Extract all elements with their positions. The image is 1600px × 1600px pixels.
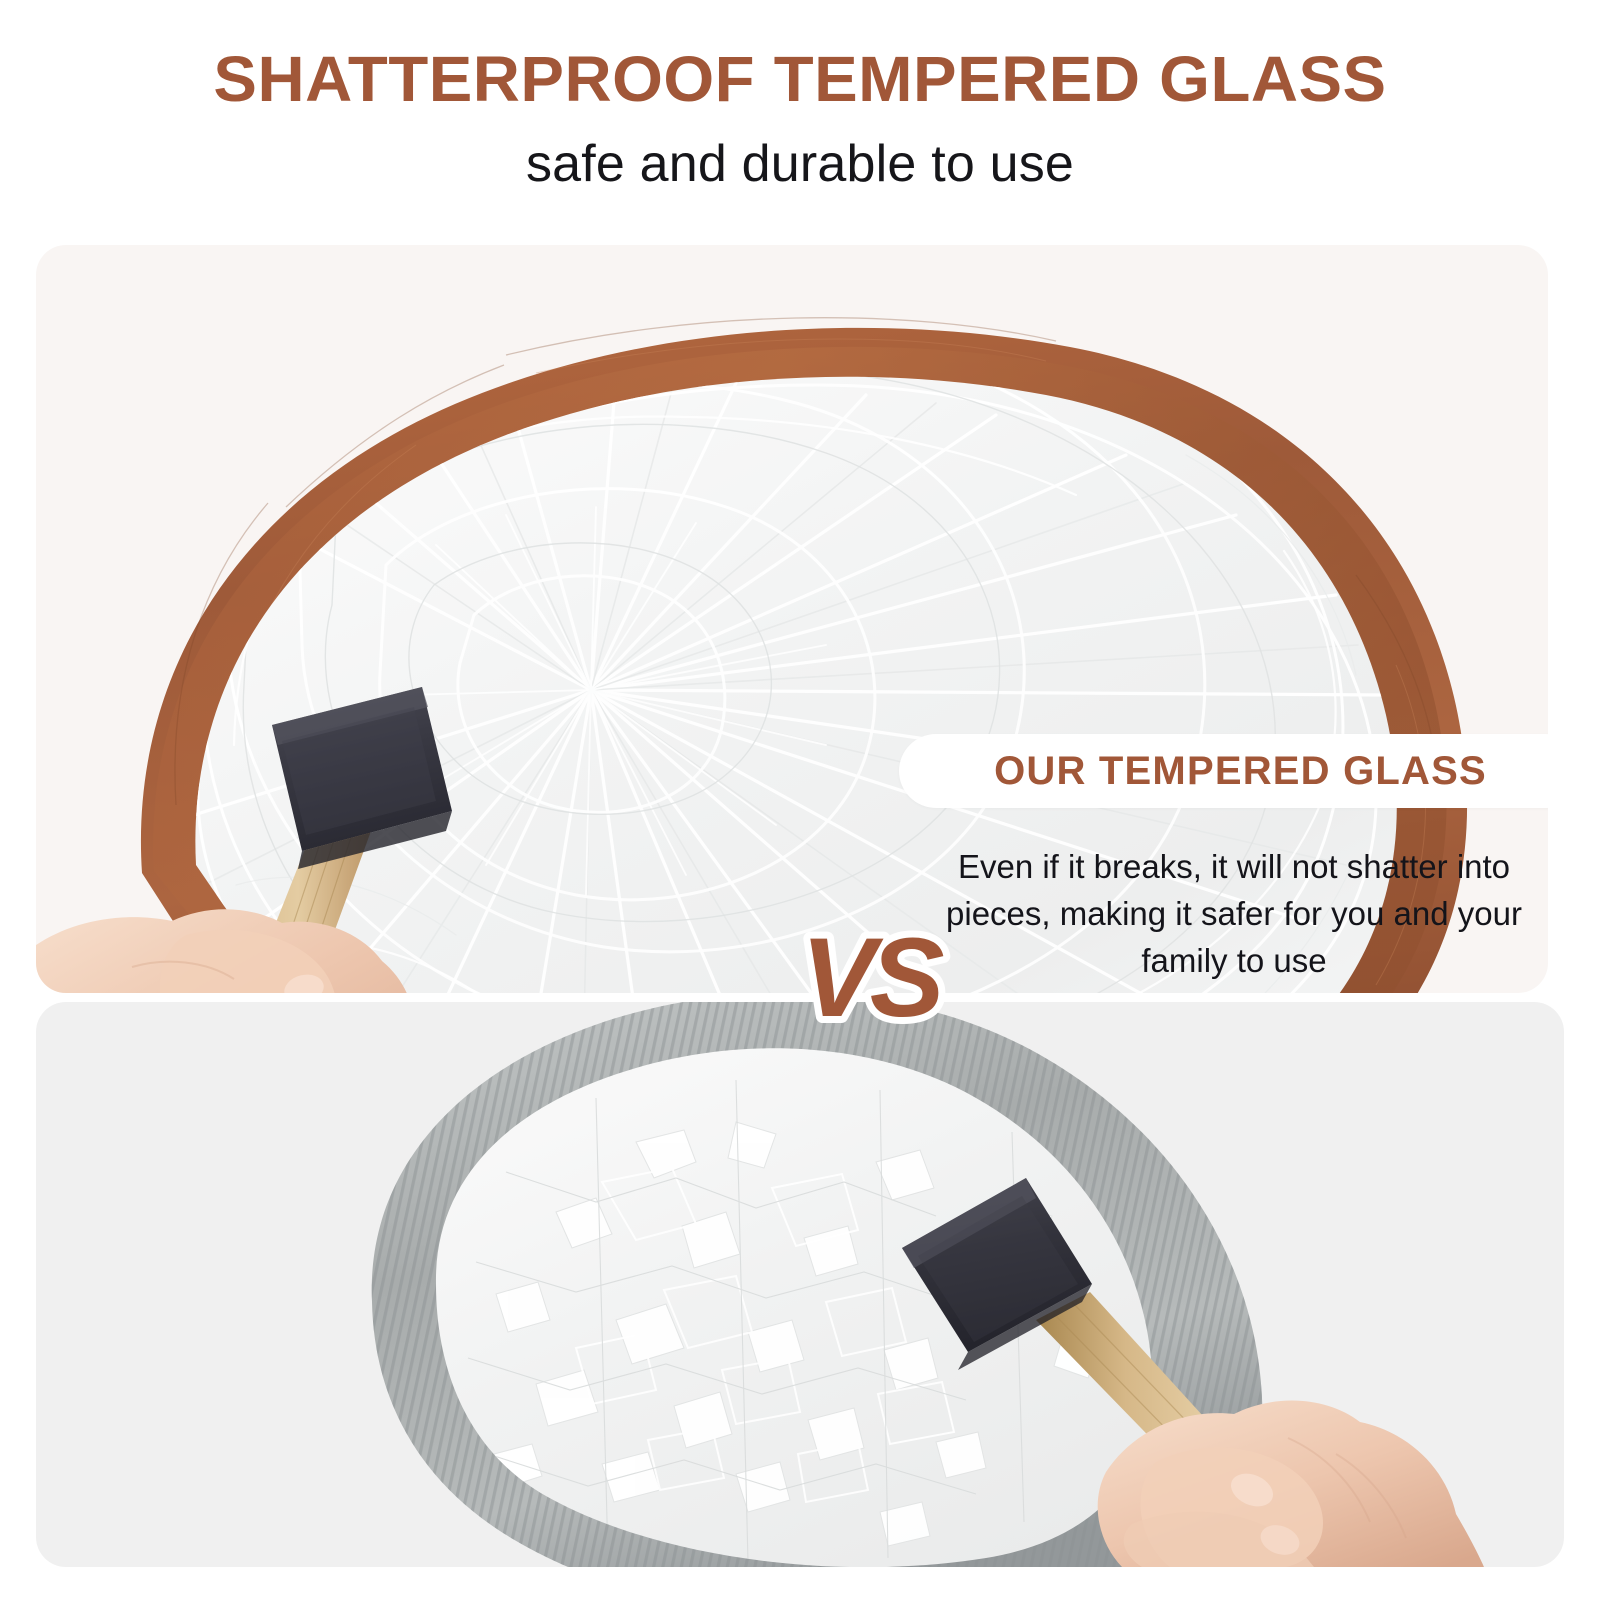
- versus-divider: VS VS: [795, 912, 975, 1042]
- header: SHATTERPROOF TEMPERED GLASS safe and dur…: [0, 0, 1600, 230]
- tempered-glass-panel: OUR TEMPERED GLASS Even if it breaks, it…: [36, 245, 1548, 993]
- page-title: SHATTERPROOF TEMPERED GLASS: [0, 42, 1600, 116]
- tempered-glass-badge: OUR TEMPERED GLASS: [899, 734, 1548, 808]
- tempered-glass-description: Even if it breaks, it will not shatter i…: [914, 843, 1548, 984]
- ordinary-glass-illustration: [36, 1002, 1564, 1567]
- page-subtitle: safe and durable to use: [0, 134, 1600, 194]
- ordinary-glass-panel: OTHER ORDINARY GLASS Other's glass mirro…: [36, 1002, 1564, 1567]
- tempered-glass-badge-label: OUR TEMPERED GLASS: [994, 749, 1487, 794]
- versus-label: VS: [801, 915, 944, 1040]
